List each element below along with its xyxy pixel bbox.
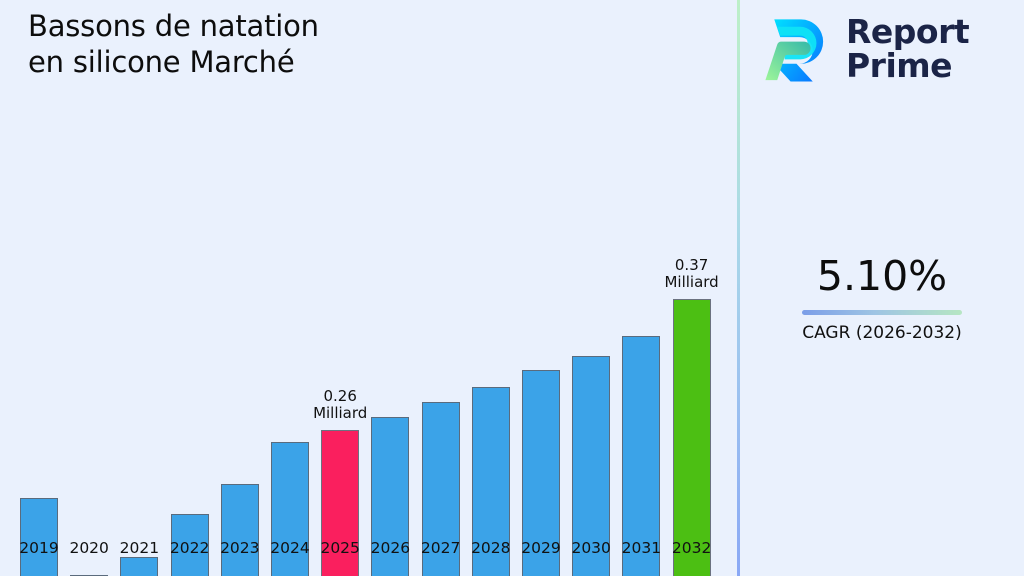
side-panel: Report Prime 5.10% CAGR (2026-2032)	[740, 0, 1024, 576]
brand-logo: Report Prime	[758, 12, 969, 86]
x-tick-2021: 2021	[114, 539, 164, 557]
x-tick-2025: 2025	[315, 539, 365, 557]
page-title: Bassons de natation en silicone Marché	[28, 8, 688, 80]
x-tick-2032: 2032	[667, 539, 717, 557]
screenshot-root: Bassons de natation en silicone Marché 0…	[0, 0, 1024, 576]
x-axis-tick-labels: 2019202020212022202320242025202620272028…	[0, 534, 738, 576]
cagr-label: CAGR (2026-2032)	[740, 322, 1024, 344]
cagr-value: 5.10%	[740, 252, 1024, 300]
x-tick-2022: 2022	[165, 539, 215, 557]
chart-panel: Bassons de natation en silicone Marché 0…	[0, 0, 738, 576]
x-tick-2028: 2028	[466, 539, 516, 557]
chart-plot-area: 0.26 Milliard0.37 Milliard	[0, 120, 738, 534]
bar-callout-2032: 0.37 Milliard	[637, 257, 747, 291]
x-tick-2030: 2030	[566, 539, 616, 557]
x-tick-2027: 2027	[416, 539, 466, 557]
x-tick-2029: 2029	[516, 539, 566, 557]
brand-name: Report Prime	[846, 15, 969, 83]
bar-callout-2025: 0.26 Milliard	[285, 388, 395, 422]
x-tick-2024: 2024	[265, 539, 315, 557]
cagr-divider-rule	[802, 310, 962, 315]
cagr-block: 5.10% CAGR (2026-2032)	[740, 252, 1024, 344]
x-tick-2031: 2031	[616, 539, 666, 557]
x-tick-2019: 2019	[14, 539, 64, 557]
x-tick-2023: 2023	[215, 539, 265, 557]
report-prime-logo-icon	[758, 12, 832, 86]
x-tick-2020: 2020	[64, 539, 114, 557]
x-tick-2026: 2026	[365, 539, 415, 557]
